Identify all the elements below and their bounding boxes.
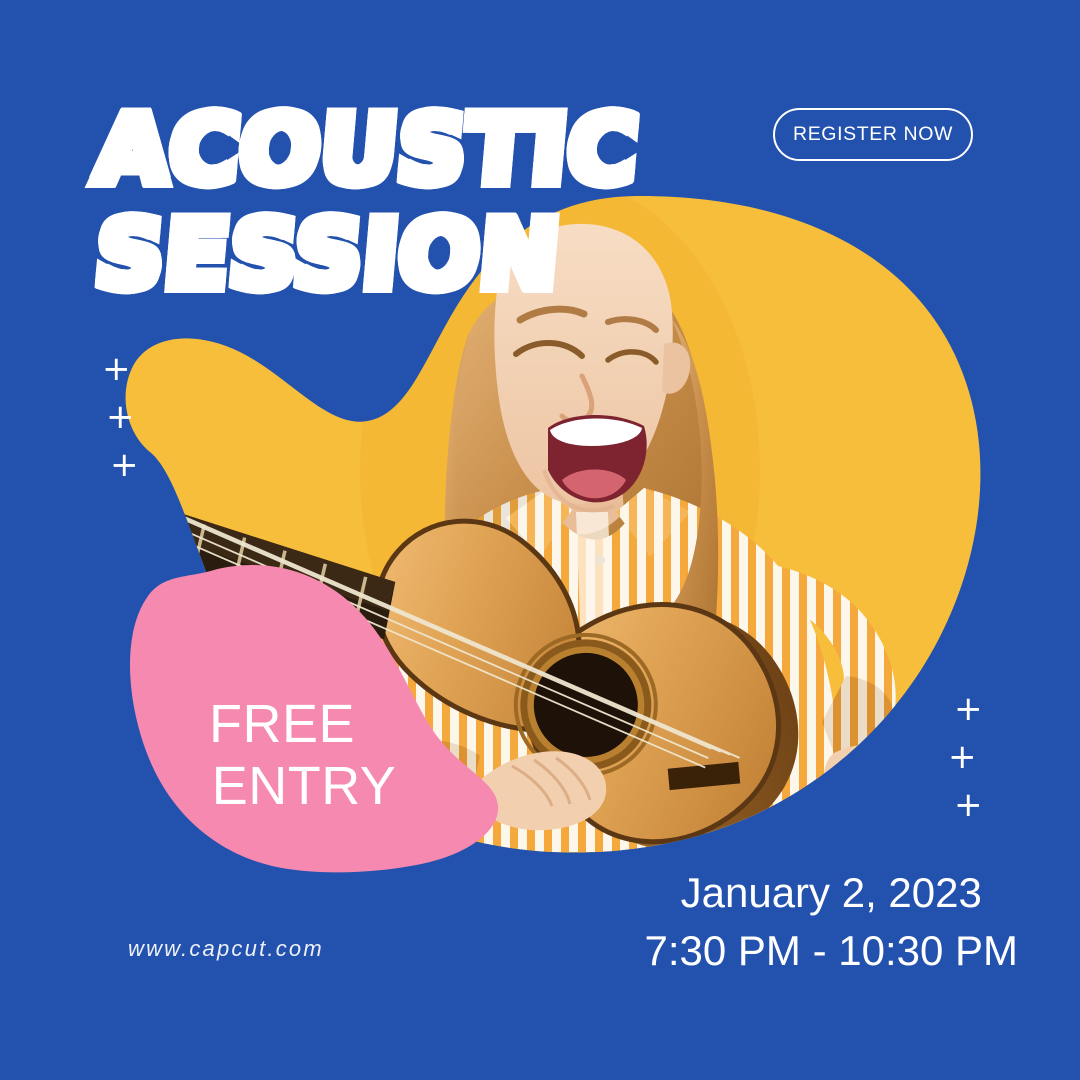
plus-icon: +	[110, 448, 139, 482]
plus-icon: +	[948, 740, 977, 774]
event-date: January 2, 2023	[644, 864, 1018, 922]
free-entry-badge: FREE ENTRY	[152, 694, 412, 817]
free-entry-line-2: ENTRY	[152, 756, 412, 818]
event-datetime: January 2, 2023 7:30 PM - 10:30 PM	[644, 864, 1018, 980]
register-now-label: REGISTER NOW	[793, 123, 953, 146]
register-now-button[interactable]: REGISTER NOW	[773, 108, 973, 161]
event-time: 7:30 PM - 10:30 PM	[644, 922, 1018, 980]
plus-icon: +	[102, 352, 131, 386]
plus-icon: +	[954, 692, 983, 726]
plus-decoration-left: + + +	[96, 352, 156, 492]
plus-icon: +	[954, 788, 983, 822]
free-entry-line-1: FREE	[209, 694, 355, 754]
plus-decoration-right: + + +	[940, 692, 1000, 832]
website-url: www.capcut.com	[128, 936, 324, 962]
plus-icon: +	[106, 400, 135, 434]
poster-canvas: ACOUSTIC SESSION REGISTER NOW + + + + + …	[0, 0, 1080, 1080]
